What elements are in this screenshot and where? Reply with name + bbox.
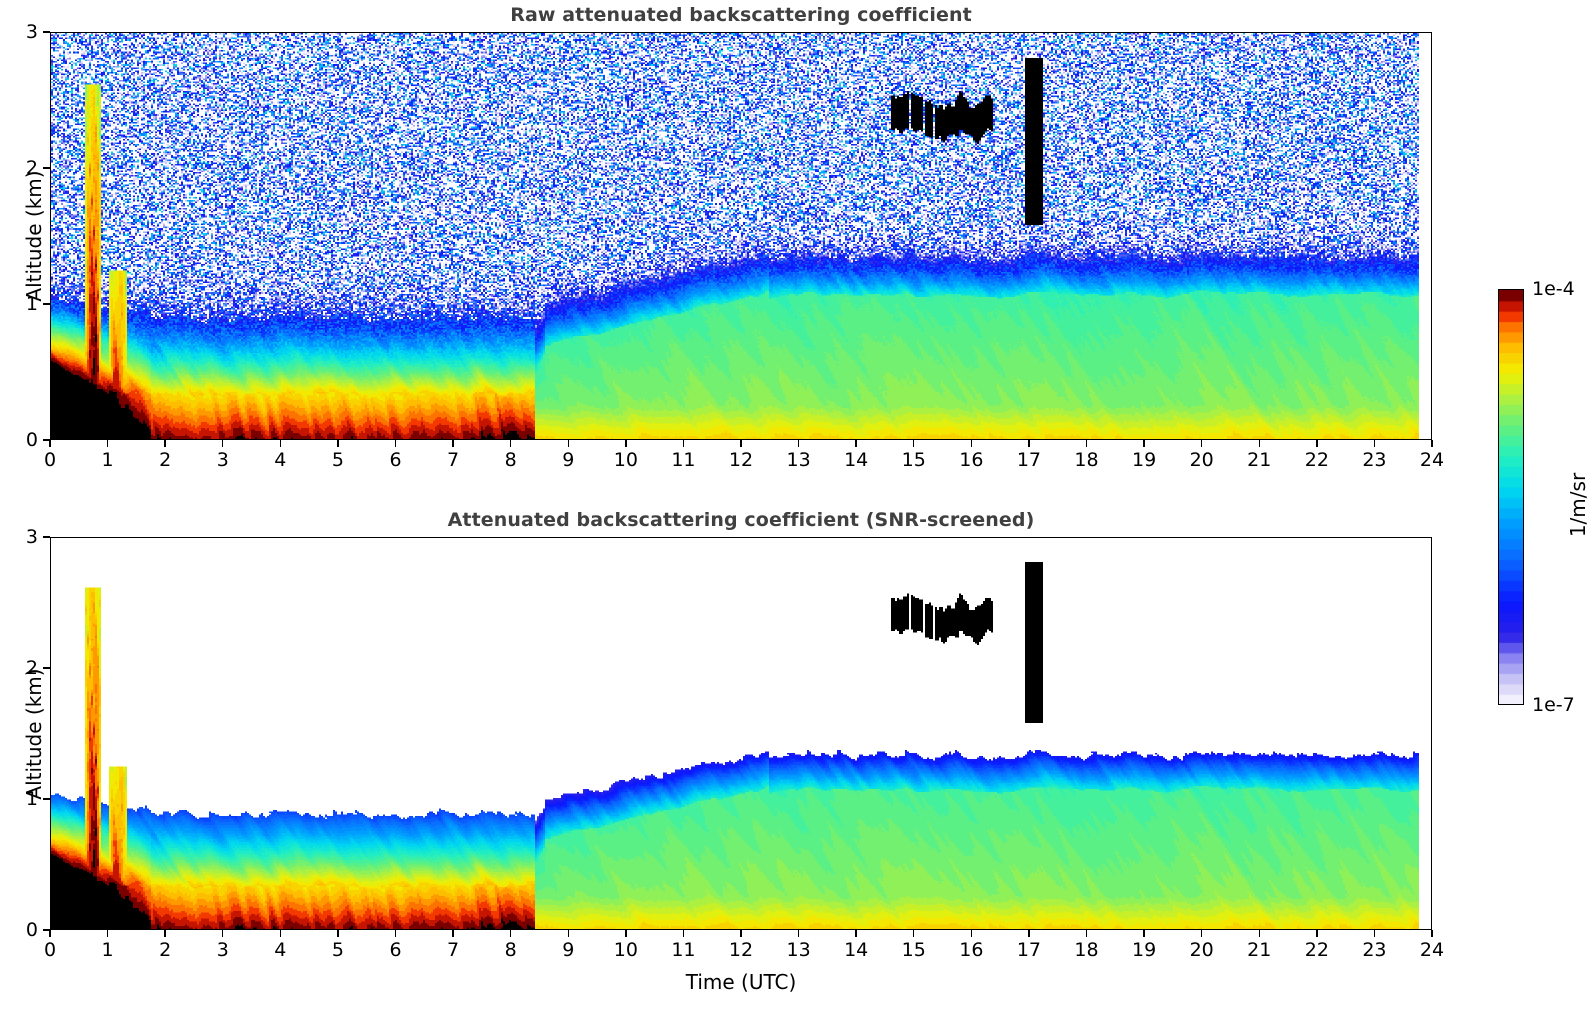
x-tick [1316,440,1317,447]
x-tick [913,930,914,937]
x-tick-label: 20 [1190,939,1214,961]
x-tick-label: 2 [159,939,171,961]
x-tick-label: 24 [1420,449,1444,471]
colorbar-min-label: 1e-7 [1532,694,1575,716]
x-tick-label: 0 [44,939,56,961]
x-tick [855,440,856,447]
x-tick-label: 6 [389,939,401,961]
panel-title-raw: Raw attenuated backscattering coefficien… [510,4,972,26]
x-tick [625,930,626,937]
x-tick [107,440,108,447]
x-tick [1143,930,1144,937]
x-tick [798,440,799,447]
x-tick [798,930,799,937]
panel-title-screened: Attenuated backscattering coefficient (S… [448,509,1035,531]
y-tick-label: 3 [4,526,38,548]
x-tick [1028,930,1029,937]
x-tick [395,440,396,447]
x-tick [510,930,511,937]
x-tick [1431,440,1432,447]
x-tick-label: 10 [614,449,638,471]
x-tick [1086,440,1087,447]
colorbar[interactable] [1498,289,1524,705]
y-tick [43,536,50,537]
x-tick [1201,440,1202,447]
lidar-backscatter-figure: Raw attenuated backscattering coefficien… [0,0,1595,1020]
x-tick [1259,440,1260,447]
x-tick-label: 4 [274,939,286,961]
y-tick [43,798,50,799]
x-tick-label: 14 [844,939,868,961]
x-tick [452,440,453,447]
x-tick [452,930,453,937]
x-tick-label: 6 [389,449,401,471]
x-tick-label: 15 [902,449,926,471]
x-tick [1316,930,1317,937]
x-tick [49,930,50,937]
y-tick-label: 3 [4,21,38,43]
y-tick [43,929,50,930]
x-tick [740,930,741,937]
x-tick-label: 20 [1190,449,1214,471]
y-axis-label-raw: Altitude (km) [22,170,46,301]
x-tick-label: 16 [959,939,983,961]
x-tick [1431,930,1432,937]
x-tick [510,440,511,447]
x-tick [337,930,338,937]
x-tick-label: 15 [902,939,926,961]
x-tick-label: 16 [959,449,983,471]
x-tick [971,440,972,447]
x-tick [280,930,281,937]
x-tick [1201,930,1202,937]
x-tick-label: 21 [1247,449,1271,471]
x-tick [740,440,741,447]
x-tick [49,440,50,447]
x-tick-label: 9 [562,939,574,961]
x-tick [683,930,684,937]
y-tick-label: 1 [4,788,38,810]
x-tick-label: 10 [614,939,638,961]
x-tick-label: 13 [786,449,810,471]
x-tick-label: 0 [44,449,56,471]
x-tick [164,440,165,447]
x-tick-label: 5 [332,939,344,961]
x-tick [971,930,972,937]
x-tick [337,440,338,447]
x-tick [222,440,223,447]
y-tick-label: 0 [4,429,38,451]
x-tick-label: 3 [217,939,229,961]
y-tick [43,439,50,440]
x-tick [164,930,165,937]
x-tick [913,440,914,447]
x-tick [1374,930,1375,937]
x-tick-label: 4 [274,449,286,471]
x-tick-label: 23 [1362,939,1386,961]
y-tick-label: 2 [4,657,38,679]
x-tick-label: 19 [1132,939,1156,961]
colorbar-gradient [1499,290,1523,704]
x-tick-label: 19 [1132,449,1156,471]
x-tick [1086,930,1087,937]
x-tick-label: 1 [102,449,114,471]
x-tick-label: 12 [729,939,753,961]
heatmap-canvas-raw [51,33,1431,439]
y-tick [43,303,50,304]
x-tick [568,440,569,447]
x-tick-label: 12 [729,449,753,471]
x-tick-label: 17 [1017,449,1041,471]
x-tick-label: 8 [505,449,517,471]
x-tick [107,930,108,937]
x-tick-label: 22 [1305,939,1329,961]
colorbar-max-label: 1e-4 [1532,278,1575,300]
x-tick [1259,930,1260,937]
x-tick-label: 14 [844,449,868,471]
x-tick-label: 7 [447,449,459,471]
x-tick [568,930,569,937]
y-tick-label: 1 [4,293,38,315]
x-tick [222,930,223,937]
colorbar-unit-label: 1/m/sr [1566,473,1590,537]
heatmap-canvas-screened [51,538,1431,929]
x-axis-label-time: Time (UTC) [686,970,797,994]
x-tick [1028,440,1029,447]
x-tick-label: 17 [1017,939,1041,961]
x-tick-label: 13 [786,939,810,961]
x-tick-label: 24 [1420,939,1444,961]
y-axis-label-screened: Altitude (km) [22,668,46,799]
x-tick [280,440,281,447]
x-tick [625,440,626,447]
x-tick [1143,440,1144,447]
x-tick-label: 2 [159,449,171,471]
y-tick [43,667,50,668]
x-tick-label: 11 [671,449,695,471]
x-tick-label: 22 [1305,449,1329,471]
x-tick [395,930,396,937]
y-tick-label: 0 [4,919,38,941]
x-tick-label: 8 [505,939,517,961]
y-tick [43,31,50,32]
x-tick [1374,440,1375,447]
x-tick-label: 1 [102,939,114,961]
heatmap-panel-raw[interactable] [50,32,1432,440]
x-tick-label: 18 [1074,449,1098,471]
x-tick [683,440,684,447]
y-tick [43,167,50,168]
x-tick-label: 21 [1247,939,1271,961]
x-tick-label: 23 [1362,449,1386,471]
x-tick-label: 9 [562,449,574,471]
x-tick-label: 11 [671,939,695,961]
x-tick-label: 18 [1074,939,1098,961]
y-tick-label: 2 [4,157,38,179]
x-tick-label: 3 [217,449,229,471]
x-tick [855,930,856,937]
x-tick-label: 5 [332,449,344,471]
heatmap-panel-screened[interactable] [50,537,1432,930]
x-tick-label: 7 [447,939,459,961]
